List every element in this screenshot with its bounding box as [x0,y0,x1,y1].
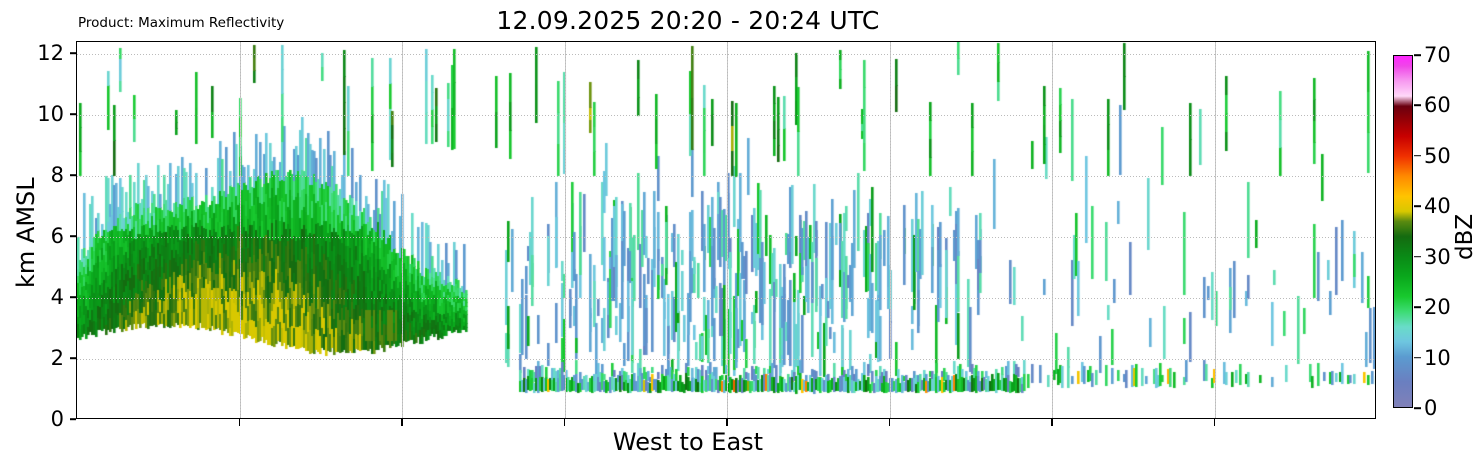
colorbar-tick-mark [1414,407,1421,409]
colorbar [1393,55,1413,408]
plot-area [76,41,1376,419]
chart-title: 12.09.2025 20:20 - 20:24 UTC [0,6,1376,35]
x-axis-label: West to East [0,428,1376,456]
colorbar-tick-label: 40 [1424,194,1451,218]
colorbar-tick-label: 70 [1424,43,1451,67]
colorbar-tick-mark [1414,256,1421,258]
colorbar-tick-mark [1414,155,1421,157]
radar-cross-section-figure: Product: Maximum Reflectivity 12.09.2025… [0,0,1482,470]
y-tick-label: 12 [24,41,64,65]
x-tick-mark [564,419,566,426]
colorbar-tick-label: 10 [1424,346,1451,370]
x-tick-mark [239,419,241,426]
x-tick-mark [726,419,728,426]
y-tick-label: 8 [24,163,64,187]
x-tick-mark [889,419,891,426]
colorbar-tick-mark [1414,105,1421,107]
y-tick-label: 4 [24,285,64,309]
x-tick-mark [1214,419,1216,426]
colorbar-tick-label: 30 [1424,245,1451,269]
colorbar-tick-label: 20 [1424,295,1451,319]
x-tick-mark [1051,419,1053,426]
y-tick-label: 6 [24,224,64,248]
x-tick-mark [401,419,403,426]
colorbar-tick-label: 50 [1424,144,1451,168]
y-tick-label: 2 [24,346,64,370]
y-tick-label: 10 [24,102,64,126]
reflectivity-heatmap [77,42,1376,419]
colorbar-title: dBZ [1452,213,1478,259]
colorbar-gradient [1394,56,1412,407]
colorbar-tick-mark [1414,54,1421,56]
colorbar-tick-label: 0 [1424,396,1437,420]
colorbar-tick-mark [1414,205,1421,207]
colorbar-tick-label: 60 [1424,93,1451,117]
colorbar-tick-mark [1414,306,1421,308]
colorbar-tick-mark [1414,357,1421,359]
